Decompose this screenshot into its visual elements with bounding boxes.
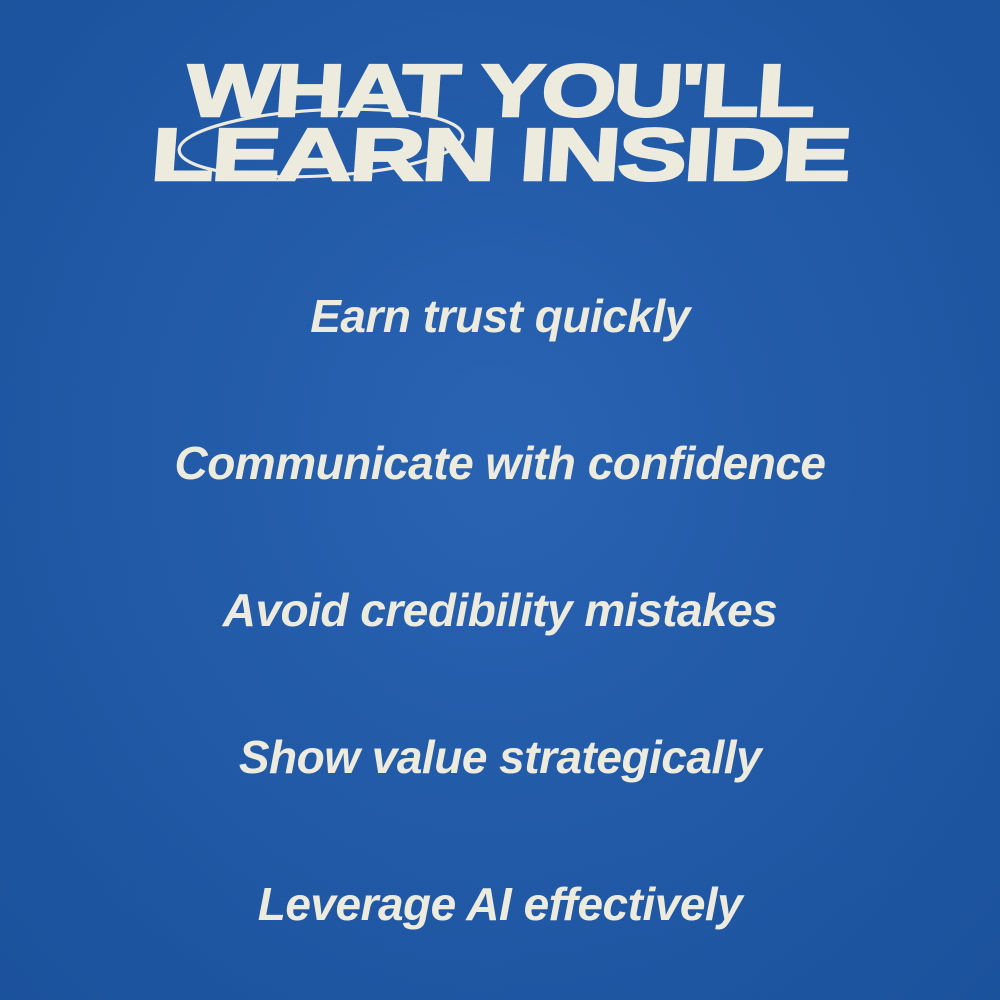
list-item: Communicate with confidence [0, 390, 1000, 537]
benefit-text-5: Leverage AI effectively [258, 880, 743, 928]
list-item: Leverage AI effectively [0, 831, 1000, 978]
benefit-text-4: Show value strategically [239, 733, 761, 781]
benefit-list: Earn trust quickly Communicate with conf… [0, 243, 1000, 978]
benefit-text-2: Communicate with confidence [174, 439, 825, 487]
headline-line-2: LEARN INSIDE [0, 118, 1000, 192]
list-item: Show value strategically [0, 684, 1000, 831]
benefit-text-1: Earn trust quickly [310, 292, 690, 340]
benefit-text-3: Avoid credibility mistakes [223, 586, 778, 634]
list-item: Avoid credibility mistakes [0, 537, 1000, 684]
headline-block: WHAT YOU'LL LEARN INSIDE [0, 44, 1000, 194]
list-item: Earn trust quickly [0, 243, 1000, 390]
